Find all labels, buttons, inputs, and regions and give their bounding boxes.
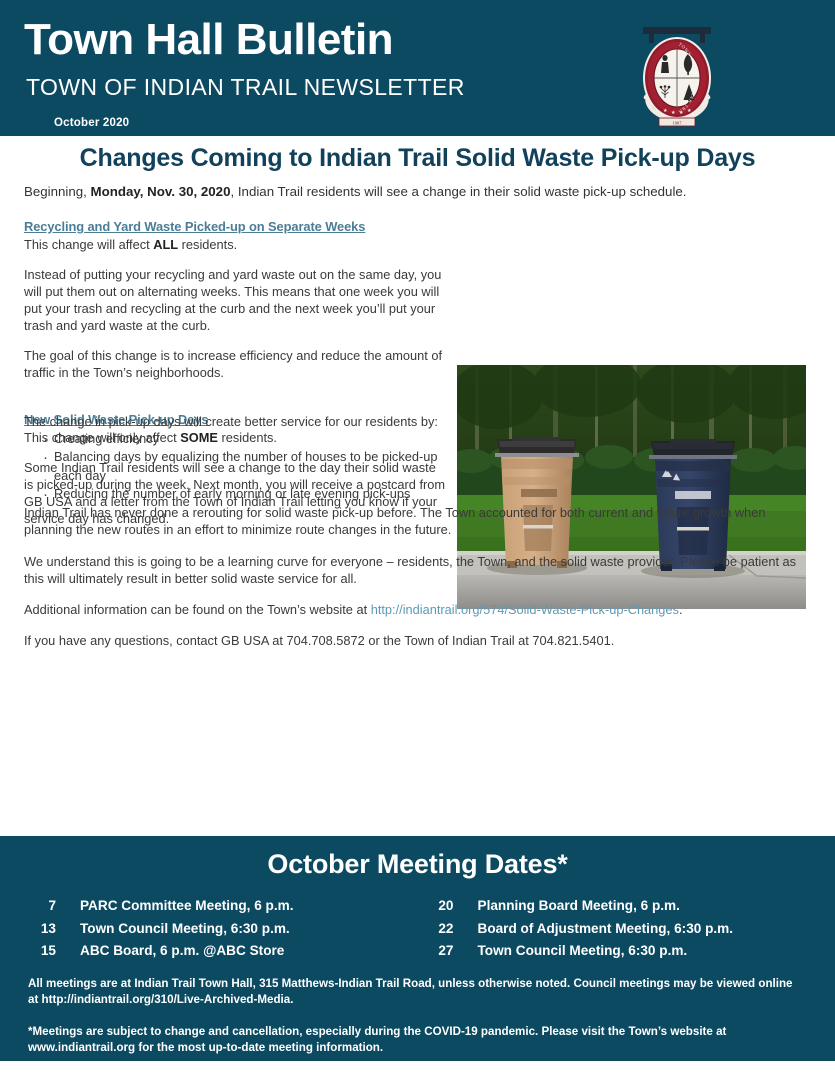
lede-text-before: Beginning, — [24, 184, 91, 199]
list-item: Balancing days by equalizing the number … — [54, 448, 448, 484]
meeting-day: 27 — [426, 940, 478, 963]
meeting-label: Board of Adjustment Meeting, 6:30 p.m. — [478, 918, 734, 941]
meetings-column-right: 20 Planning Board Meeting, 6 p.m. 22 Boa… — [418, 895, 835, 963]
meeting-row: 22 Board of Adjustment Meeting, 6:30 p.m… — [426, 918, 835, 941]
website-line-before: Additional information can be found on t… — [24, 602, 371, 617]
section-one-line-after: residents. — [178, 237, 237, 252]
meeting-day: 20 — [426, 895, 478, 918]
meeting-row: 15 ABC Board, 6 p.m. @ABC Store — [28, 940, 418, 963]
closing-para-2: We understand this is going to be a lear… — [24, 553, 814, 588]
meeting-label: Planning Board Meeting, 6 p.m. — [478, 895, 680, 918]
section-one-subhead-link[interactable]: Recycling and Yard Waste Picked-up on Se… — [24, 218, 448, 235]
meeting-day: 15 — [28, 940, 80, 963]
newsletter-subtitle: TOWN OF INDIAN TRAIL NEWSLETTER — [26, 76, 465, 99]
section-one-intro: Recycling and Yard Waste Picked-up on Se… — [24, 218, 448, 253]
solid-waste-changes-link[interactable]: http://indiantrail.org/574/Solid-Waste-P… — [371, 602, 679, 617]
lede-text-after: , Indian Trail residents will see a chan… — [230, 184, 686, 199]
meetings-grid: 7 PARC Committee Meeting, 6 p.m. 13 Town… — [0, 895, 835, 963]
section-one-para-2: The goal of this change is to increase e… — [24, 347, 448, 381]
svg-text:★: ★ — [671, 110, 676, 116]
svg-text:★: ★ — [663, 108, 668, 114]
bullets-intro: The change in pick-up days will create b… — [24, 413, 448, 430]
svg-text:★: ★ — [687, 108, 692, 114]
footer-note-disclaimer: *Meetings are subject to change and canc… — [28, 1024, 803, 1057]
article-body: Changes Coming to Indian Trail Solid Was… — [0, 136, 835, 836]
meeting-row: 27 Town Council Meeting, 6:30 p.m. — [426, 940, 835, 963]
meeting-row: 13 Town Council Meeting, 6:30 p.m. — [28, 918, 418, 941]
meeting-dates-footer: October Meeting Dates* 7 PARC Committee … — [0, 836, 835, 1061]
bullets-block: The change in pick-up days will create b… — [24, 413, 448, 503]
town-seal-icon: TOWN SEAL OF INDIAN TRAIL NORTH CAROLINA… — [627, 26, 727, 130]
meeting-label: Town Council Meeting, 6:30 p.m. — [478, 940, 688, 963]
issue-date: October 2020 — [54, 118, 129, 130]
meeting-day: 13 — [28, 918, 80, 941]
closing-para-3: Additional information can be found on t… — [24, 601, 814, 618]
list-item: Reducing the number of early morning or … — [54, 485, 448, 503]
svg-text:★: ★ — [679, 110, 684, 116]
closing-para-1: Indian Trail has never done a rerouting … — [24, 504, 814, 539]
section-one-para-1: Instead of putting your recycling and ya… — [24, 266, 448, 334]
closing-block: Indian Trail has never done a rerouting … — [24, 504, 814, 664]
newsletter-title: Town Hall Bulletin — [24, 18, 393, 62]
closing-para-4: If you have any questions, contact GB US… — [24, 632, 814, 649]
list-item: Creating efficiency — [54, 430, 448, 448]
section-one-line-bold: ALL — [153, 237, 178, 252]
meetings-column-left: 7 PARC Committee Meeting, 6 p.m. 13 Town… — [0, 895, 418, 963]
lede-date-bold: Monday, Nov. 30, 2020 — [91, 184, 231, 199]
footer-title: October Meeting Dates* — [0, 849, 835, 880]
article-headline: Changes Coming to Indian Trail Solid Was… — [0, 144, 835, 173]
meeting-label: Town Council Meeting, 6:30 p.m. — [80, 918, 290, 941]
section-one-line-before: This change will affect — [24, 237, 153, 252]
meeting-day: 22 — [426, 918, 478, 941]
meeting-label: PARC Committee Meeting, 6 p.m. — [80, 895, 294, 918]
benefits-list: Creating efficiency Balancing days by eq… — [24, 430, 448, 503]
article-lede: Beginning, Monday, Nov. 30, 2020, Indian… — [24, 183, 814, 201]
website-line-after: . — [679, 602, 683, 617]
footer-note-location: All meetings are at Indian Trail Town Ha… — [28, 976, 803, 1009]
meeting-row: 20 Planning Board Meeting, 6 p.m. — [426, 895, 835, 918]
meeting-label: ABC Board, 6 p.m. @ABC Store — [80, 940, 284, 963]
meeting-row: 7 PARC Committee Meeting, 6 p.m. — [28, 895, 418, 918]
masthead: Town Hall Bulletin TOWN OF INDIAN TRAIL … — [0, 0, 835, 136]
meeting-day: 7 — [28, 895, 80, 918]
footer-notes: All meetings are at Indian Trail Town Ha… — [28, 976, 803, 1072]
seal-year-text: 1907 — [673, 120, 683, 125]
